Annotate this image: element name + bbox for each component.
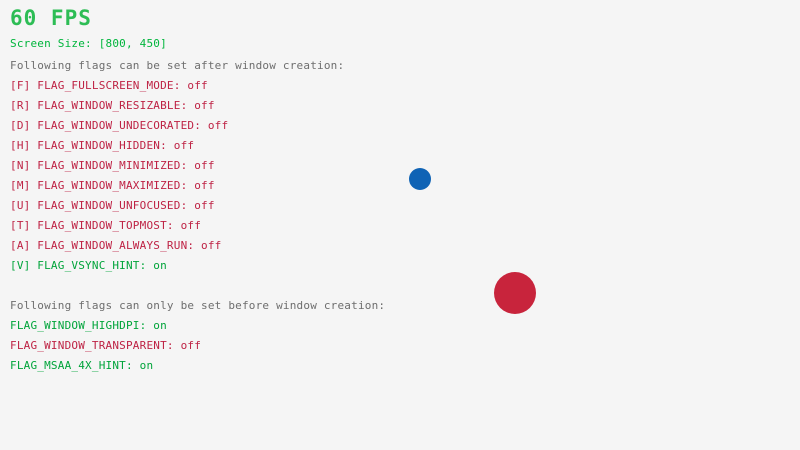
flag-label: [U] FLAG_WINDOW_UNFOCUSED: off	[10, 199, 215, 212]
flag-row[interactable]: FLAG_WINDOW_HIGHDPI: on	[10, 319, 490, 339]
flag-row[interactable]: [H] FLAG_WINDOW_HIDDEN: off	[10, 139, 490, 159]
fps-counter: 60 FPS	[10, 6, 92, 30]
raylib-window-canvas: 60 FPS Screen Size: [800, 450] Following…	[0, 0, 800, 450]
flag-label: [T] FLAG_WINDOW_TOPMOST: off	[10, 219, 201, 232]
flag-label: [H] FLAG_WINDOW_HIDDEN: off	[10, 139, 194, 152]
flag-label: [D] FLAG_WINDOW_UNDECORATED: off	[10, 119, 228, 132]
flag-list-before-creation: FLAG_WINDOW_HIGHDPI: onFLAG_WINDOW_TRANS…	[10, 319, 490, 379]
flag-label: [N] FLAG_WINDOW_MINIMIZED: off	[10, 159, 215, 172]
flag-label: [A] FLAG_WINDOW_ALWAYS_RUN: off	[10, 239, 222, 252]
flag-row[interactable]: FLAG_MSAA_4X_HINT: on	[10, 359, 490, 379]
section-header-after-creation: Following flags can be set after window …	[10, 59, 344, 72]
screen-size-label: Screen Size: [800, 450]	[10, 37, 167, 50]
flag-row[interactable]: [V] FLAG_VSYNC_HINT: on	[10, 259, 490, 279]
section-header-before-creation: Following flags can only be set before w…	[10, 299, 385, 312]
flag-row[interactable]: [T] FLAG_WINDOW_TOPMOST: off	[10, 219, 490, 239]
flag-row[interactable]: FLAG_WINDOW_TRANSPARENT: off	[10, 339, 490, 359]
bouncing-ball-blue	[409, 168, 431, 190]
flag-label: FLAG_MSAA_4X_HINT: on	[10, 359, 153, 372]
flag-row[interactable]: [A] FLAG_WINDOW_ALWAYS_RUN: off	[10, 239, 490, 259]
flag-row[interactable]: [R] FLAG_WINDOW_RESIZABLE: off	[10, 99, 490, 119]
bouncing-ball-red	[494, 272, 536, 314]
flag-row[interactable]: [U] FLAG_WINDOW_UNFOCUSED: off	[10, 199, 490, 219]
flag-label: [F] FLAG_FULLSCREEN_MODE: off	[10, 79, 208, 92]
flag-label: [M] FLAG_WINDOW_MAXIMIZED: off	[10, 179, 215, 192]
flag-row[interactable]: [D] FLAG_WINDOW_UNDECORATED: off	[10, 119, 490, 139]
flag-label: [V] FLAG_VSYNC_HINT: on	[10, 259, 167, 272]
flag-label: FLAG_WINDOW_TRANSPARENT: off	[10, 339, 201, 352]
flag-label: FLAG_WINDOW_HIGHDPI: on	[10, 319, 167, 332]
flag-label: [R] FLAG_WINDOW_RESIZABLE: off	[10, 99, 215, 112]
flag-row[interactable]: [F] FLAG_FULLSCREEN_MODE: off	[10, 79, 490, 99]
